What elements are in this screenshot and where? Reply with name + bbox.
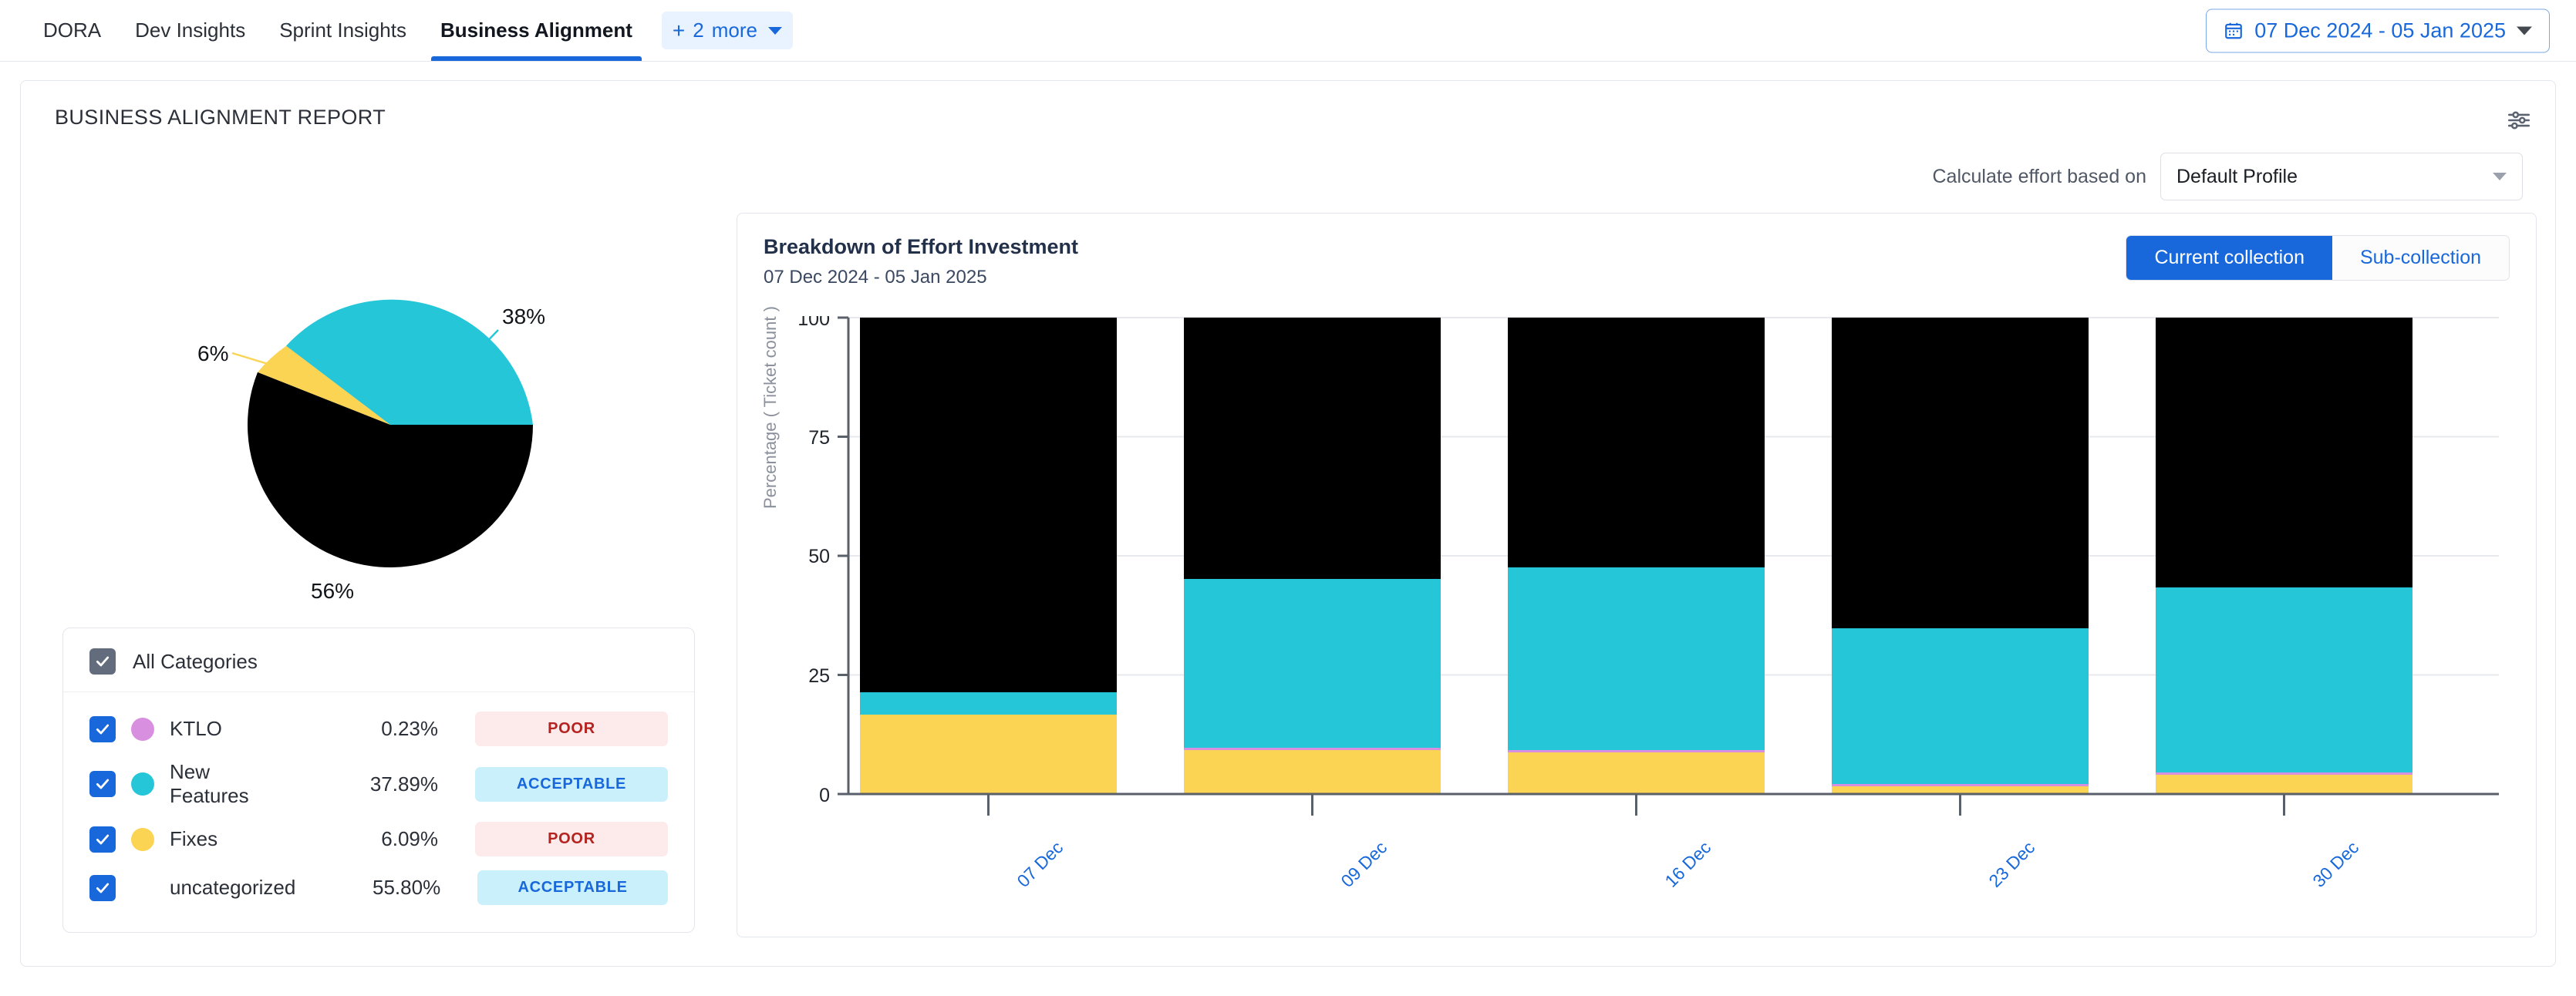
chart-header: Breakdown of Effort Investment 07 Dec 20… [764,235,2510,288]
legend-checkbox-ktlo[interactable] [89,716,116,742]
bar-group-07-dec[interactable] [860,318,1117,794]
chart-header-text: Breakdown of Effort Investment 07 Dec 20… [764,235,1078,288]
legend-value-uncategorized: 55.80% [311,876,440,900]
status-badge-new-features: ACCEPTABLE [475,767,668,802]
bar-segment-ktlo[interactable] [2156,772,2412,775]
bar-segment-uncategorized[interactable] [2156,318,2412,587]
bar-segment-new-features[interactable] [1832,628,2089,784]
chevron-down-icon [2517,26,2532,35]
bar-segment-fixes[interactable] [1184,750,1441,794]
tab-label: Business Alignment [440,19,632,42]
legend-label-new-features: New Features [170,760,292,808]
y-tick-75: 75 [808,427,830,449]
y-tick-0: 0 [819,785,830,806]
business-alignment-report-card: BUSINESS ALIGNMENT REPORT Calculate effo… [20,80,2556,967]
legend-row-fixes[interactable]: Fixes 6.09% POOR [63,815,694,863]
more-tabs-button[interactable]: + 2 more [662,12,793,49]
pie-label-new-features: 38% [502,305,545,328]
y-axis: 100 75 50 25 0 [797,316,848,806]
effort-label: Calculate effort based on [1932,166,2146,188]
status-badge-fixes: POOR [475,822,668,856]
legend-label-fixes: Fixes [170,827,292,851]
right-column: Breakdown of Effort Investment 07 Dec 20… [718,213,2537,937]
x-axis [848,794,2499,816]
pie-chart-wrap: 38% 6% 56% [39,213,718,614]
effort-profile-value: Default Profile [2176,166,2298,188]
bar-segment-uncategorized[interactable] [1184,318,1441,579]
bar-segment-new-features[interactable] [860,692,1117,715]
bar-segment-fixes[interactable] [2156,775,2412,794]
legend-row-list: KTLO 0.23% POOR New Features 37.89% ACCE… [63,692,694,912]
chevron-down-icon [768,27,782,35]
left-column: 38% 6% 56% All Categories [39,213,718,937]
page-body: BUSINESS ALIGNMENT REPORT Calculate effo… [0,62,2576,985]
legend-checkbox-fixes[interactable] [89,826,116,853]
sliders-settings-icon[interactable] [2506,107,2532,137]
bar-segment-new-features[interactable] [1184,579,1441,748]
bar-segment-fixes[interactable] [860,715,1117,794]
tab-list: DORA Dev Insights Sprint Insights Busine… [26,0,793,61]
all-categories-checkbox[interactable] [89,648,116,675]
top-tab-bar: DORA Dev Insights Sprint Insights Busine… [0,0,2576,62]
pie-label-fixes: 6% [197,342,228,365]
legend-checkbox-uncategorized[interactable] [89,875,116,901]
bar-segment-uncategorized[interactable] [1508,318,1765,567]
plus-icon: + [673,20,685,42]
legend-checkbox-new-features[interactable] [89,771,116,797]
category-legend: All Categories KTLO 0.23% POOR [62,628,695,933]
plot-area: Percentage ( Ticket count ) [764,316,2510,925]
legend-row-ktlo[interactable]: KTLO 0.23% POOR [63,705,694,753]
tab-label: Sprint Insights [279,19,406,42]
date-range-picker[interactable]: 07 Dec 2024 - 05 Jan 2025 [2206,8,2550,52]
toggle-current-collection[interactable]: Current collection [2126,236,2332,280]
all-categories-label: All Categories [133,650,258,674]
tab-dev-insights[interactable]: Dev Insights [118,0,262,61]
legend-color-dot-fixes [131,828,154,851]
bar-segment-uncategorized[interactable] [1832,318,2089,628]
effort-pie-chart: 38% 6% 56% [39,213,703,614]
pie-leader-line-6 [232,353,268,364]
legend-row-uncategorized[interactable]: uncategorized 55.80% ACCEPTABLE [63,863,694,912]
tab-business-alignment[interactable]: Business Alignment [423,0,649,61]
bar-group-23-dec[interactable] [1832,318,2089,794]
toggle-sub-collection[interactable]: Sub-collection [2332,236,2509,280]
bar-segment-ktlo[interactable] [1508,750,1765,752]
legend-row-new-features[interactable]: New Features 37.89% ACCEPTABLE [63,753,694,815]
chevron-down-icon [2493,173,2507,180]
chart-subtitle: 07 Dec 2024 - 05 Jan 2025 [764,267,1078,288]
effort-profile-select[interactable]: Default Profile [2160,153,2523,200]
report-body: 38% 6% 56% All Categories [39,213,2537,937]
y-tick-100: 100 [797,316,830,330]
more-label: more [712,19,757,42]
calendar-icon [2224,21,2244,41]
legend-color-dot-new-features [131,772,154,796]
more-count: 2 [693,19,703,42]
tab-label: DORA [43,19,101,42]
status-badge-ktlo: POOR [475,712,668,746]
pie-label-uncategorized: 56% [311,579,354,603]
page-title: BUSINESS ALIGNMENT REPORT [39,81,2537,130]
bar-segment-uncategorized[interactable] [860,318,1117,692]
legend-color-dot-ktlo [131,718,154,741]
status-badge-uncategorized: ACCEPTABLE [477,870,668,905]
effort-profile-row: Calculate effort based on Default Profil… [39,153,2537,200]
bar-segment-new-features[interactable] [1508,567,1765,750]
legend-label-ktlo: KTLO [170,717,292,741]
bar-group-30-dec[interactable] [2156,318,2412,794]
legend-value-fixes: 6.09% [307,827,438,851]
bar-group-16-dec[interactable] [1508,318,1765,794]
effort-breakdown-panel: Breakdown of Effort Investment 07 Dec 20… [737,213,2537,937]
legend-all-categories-row[interactable]: All Categories [63,644,694,692]
tab-sprint-insights[interactable]: Sprint Insights [262,0,423,61]
date-range-text: 07 Dec 2024 - 05 Jan 2025 [2254,19,2506,42]
bar-group-09-dec[interactable] [1184,318,1441,794]
bar-segment-ktlo[interactable] [1184,748,1441,750]
collection-toggle-group: Current collection Sub-collection [2126,235,2510,281]
legend-label-uncategorized: uncategorized [170,876,295,900]
y-tick-25: 25 [808,665,830,687]
stacked-bar-chart: 100 75 50 25 0 [764,316,2522,925]
tab-label: Dev Insights [135,19,245,42]
bar-segment-new-features[interactable] [2156,587,2412,772]
chart-title: Breakdown of Effort Investment [764,235,1078,259]
bar-segment-ktlo[interactable] [1832,784,2089,786]
bar-segment-fixes[interactable] [1508,752,1765,794]
y-tick-50: 50 [808,546,830,567]
legend-value-ktlo: 0.23% [307,717,438,741]
legend-value-new-features: 37.89% [307,772,438,796]
tab-dora[interactable]: DORA [26,0,118,61]
